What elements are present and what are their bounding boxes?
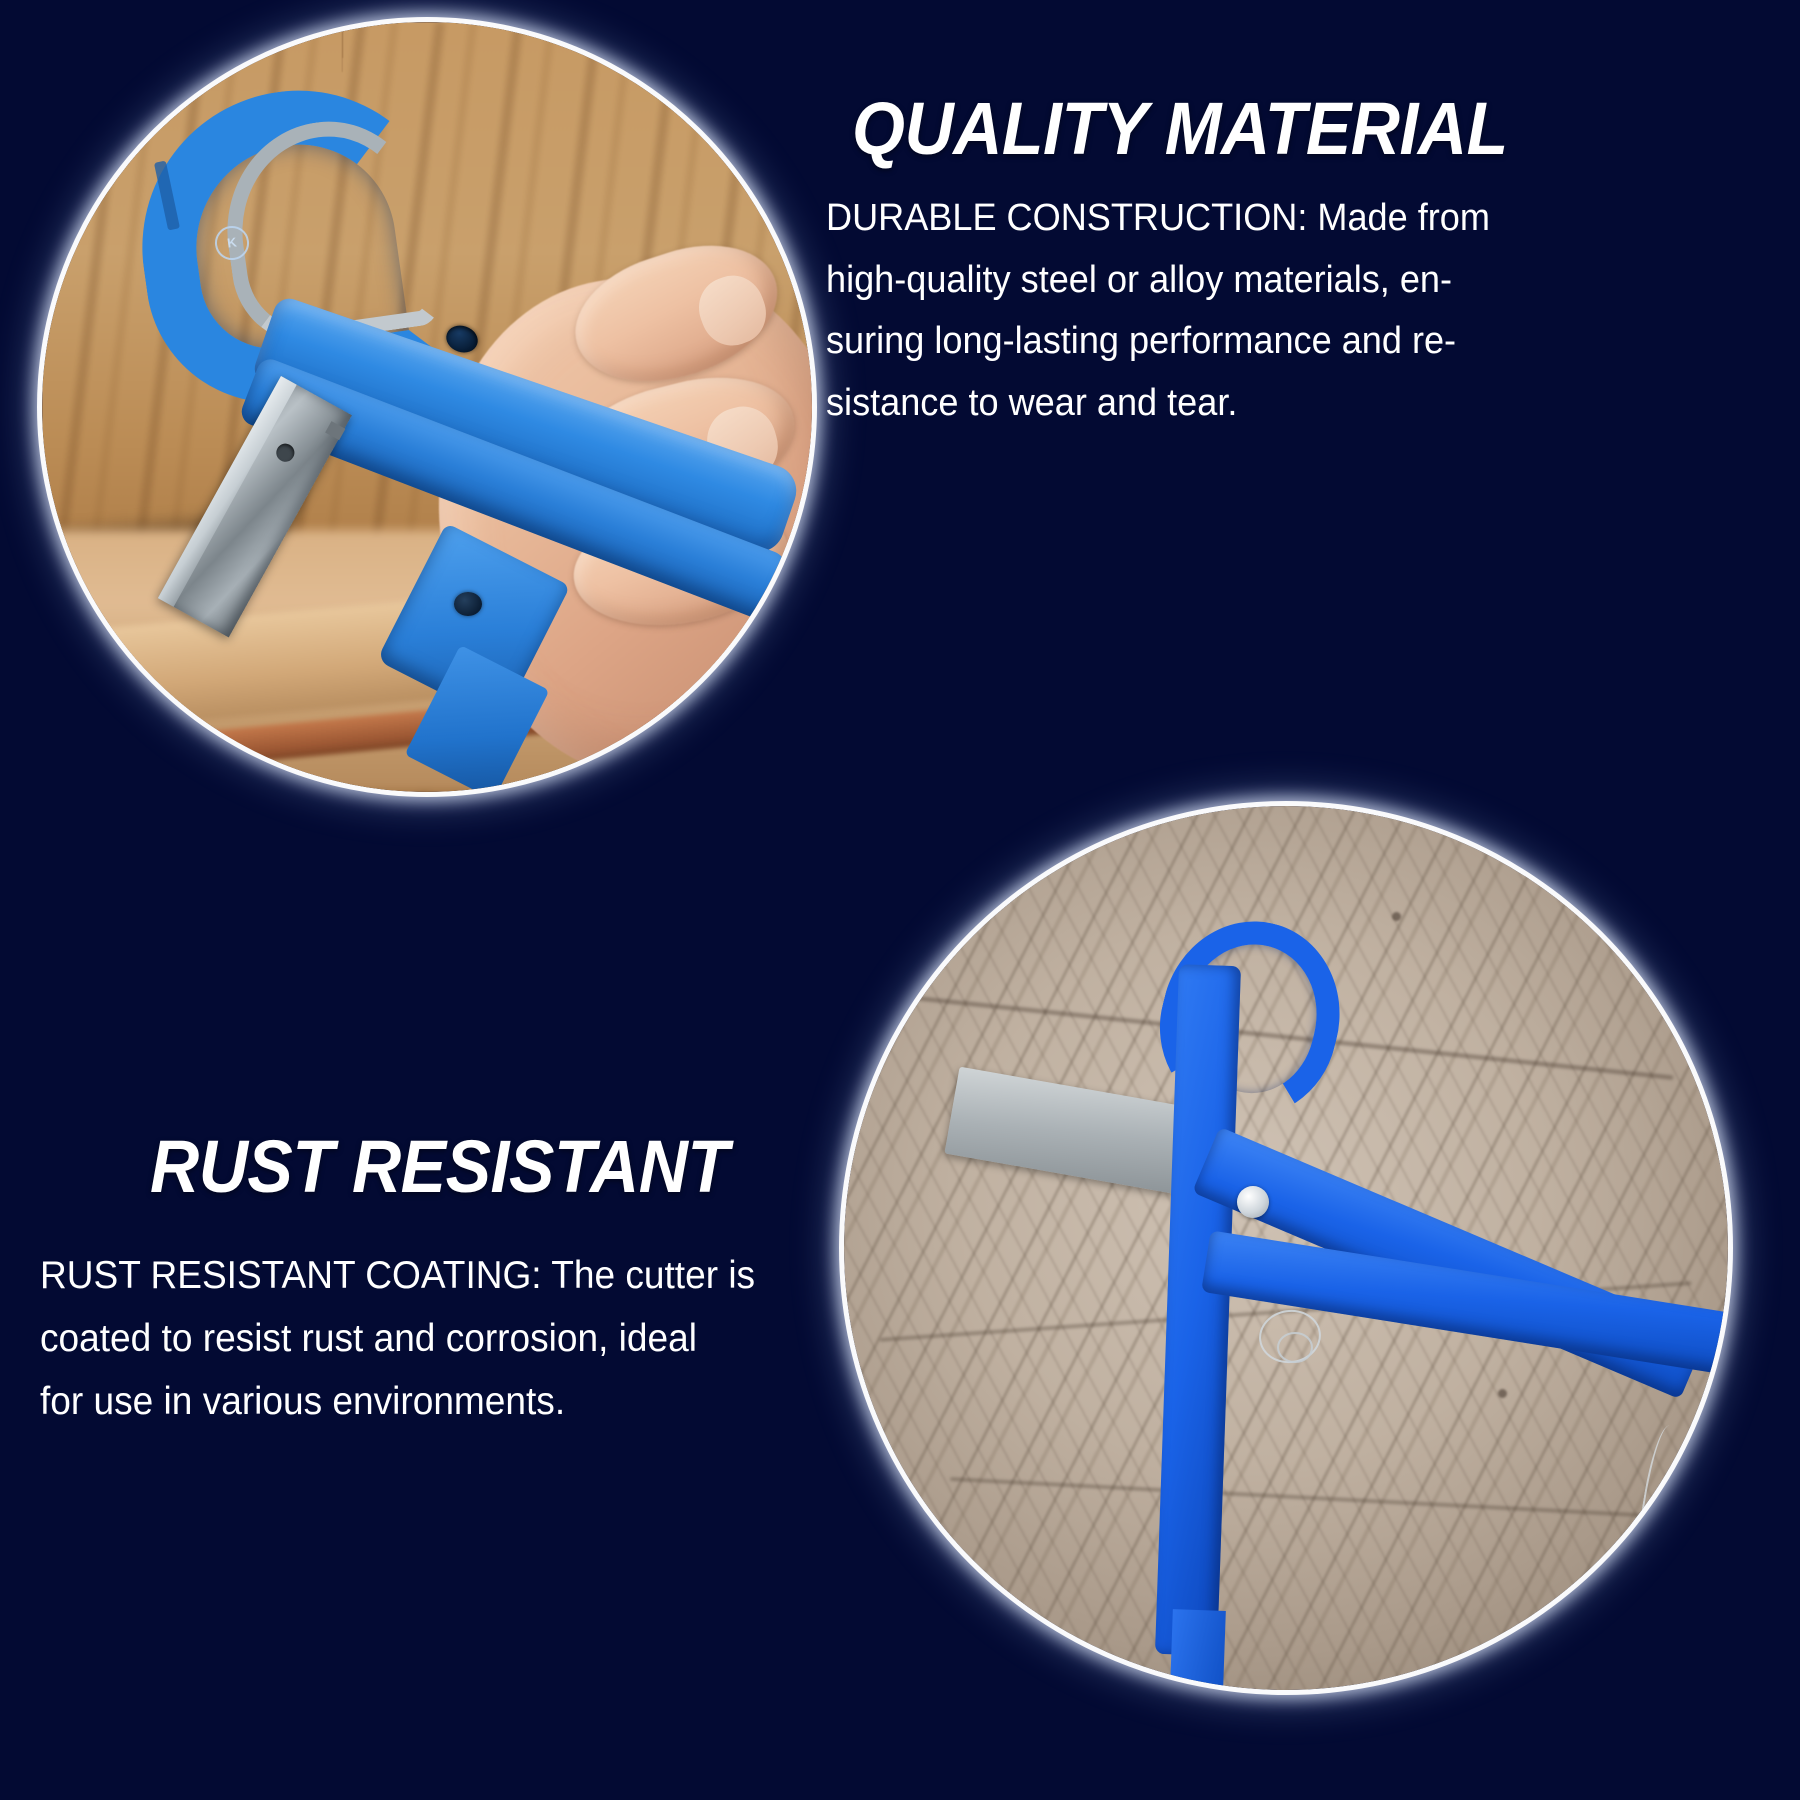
body-line: coated to resist rust and corrosion, ide…	[40, 1307, 800, 1370]
feature-block-rust-resistant: RUST RESISTANT RUST RESISTANT COATING: T…	[40, 1130, 840, 1434]
feature-block-quality-material: QUALITY MATERIAL DURABLE CONSTRUCTION: M…	[826, 92, 1586, 434]
cutter-on-stump-photo	[844, 806, 1728, 1690]
rust-resistant-heading: RUST RESISTANT	[150, 1130, 785, 1204]
cutter-spring-coil	[1277, 1332, 1312, 1363]
product-feature-poster: QUALITY MATERIAL DURABLE CONSTRUCTION: M…	[0, 0, 1800, 1800]
cutter-rivet	[1237, 1186, 1269, 1218]
cutter-spine-tip	[1169, 1610, 1226, 1690]
body-line: high-quality steel or alloy materials, e…	[826, 250, 1548, 312]
cutter-on-stump-image	[844, 806, 1728, 1690]
blade-mounting-hole	[273, 441, 297, 465]
rust-resistant-body: RUST RESISTANT COATING: The cutter is co…	[40, 1244, 800, 1434]
body-line: RUST RESISTANT COATING: The cutter is	[40, 1244, 800, 1307]
body-line: sistance to wear and tear.	[826, 373, 1548, 435]
hand-holding-cutter-image	[42, 22, 812, 792]
body-line: suring long-lasting performance and re-	[826, 311, 1548, 373]
blade-holder-screw	[454, 592, 482, 616]
body-line: for use in various environments.	[40, 1370, 800, 1433]
body-line: DURABLE CONSTRUCTION: Made from	[826, 188, 1548, 250]
quality-material-heading: QUALITY MATERIAL	[852, 92, 1527, 166]
quality-material-body: DURABLE CONSTRUCTION: Made from high-qua…	[826, 188, 1548, 434]
hand-holding-cutter-photo	[42, 22, 812, 792]
